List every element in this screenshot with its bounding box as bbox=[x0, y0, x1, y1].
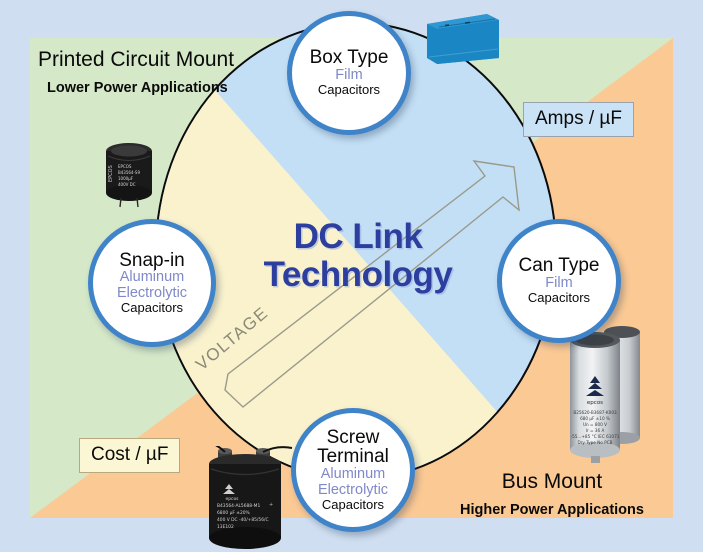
printed-circuit-mount-title: Printed Circuit Mount bbox=[38, 48, 234, 72]
bubble-screw-terminal[interactable]: Screw Terminal Aluminum Electrolytic Cap… bbox=[291, 408, 415, 532]
bubble-can-type-caption: Capacitors bbox=[528, 291, 590, 305]
bubble-can-type-title: Can Type bbox=[519, 256, 600, 276]
bubble-screw-terminal-subtitle-2: Electrolytic bbox=[318, 483, 388, 498]
bubble-snap-in[interactable]: Snap-in Aluminum Electrolytic Capacitors bbox=[88, 219, 216, 347]
bubble-screw-terminal-title-1: Screw bbox=[327, 428, 380, 448]
svg-text:B25620-B3687-K003: B25620-B3687-K003 bbox=[573, 410, 617, 415]
svg-text:EPCOS: EPCOS bbox=[108, 165, 114, 182]
svg-text:B43564-S9: B43564-S9 bbox=[118, 170, 140, 175]
bubble-snap-in-title: Snap-in bbox=[119, 251, 185, 271]
svg-text:680 µF ±10 %: 680 µF ±10 % bbox=[580, 416, 610, 421]
amps-per-microfarad-label: Amps / µF bbox=[523, 102, 634, 137]
box-film-capacitor-photo bbox=[425, 12, 501, 65]
bubble-screw-terminal-caption: Capacitors bbox=[322, 498, 384, 512]
snap-in-capacitor-photo: EPCOS B43564-S9 1000µF 400V DC EPCOS bbox=[96, 138, 162, 208]
svg-text:400V DC: 400V DC bbox=[118, 182, 136, 187]
svg-text:6800 µF ±20%: 6800 µF ±20% bbox=[217, 510, 250, 516]
bubble-box-type-subtitle: Film bbox=[335, 68, 362, 83]
svg-text:Ir = 36 A: Ir = 36 A bbox=[586, 428, 605, 433]
bus-mount-subtitle: Higher Power Applications bbox=[460, 502, 644, 518]
bubble-snap-in-subtitle-2: Electrolytic bbox=[117, 286, 187, 301]
bubble-box-type-caption: Capacitors bbox=[318, 83, 380, 97]
bubble-box-type[interactable]: Box Type Film Capacitors bbox=[287, 11, 411, 135]
svg-text:EPCOS: EPCOS bbox=[118, 164, 132, 169]
bubble-box-type-title: Box Type bbox=[310, 48, 389, 68]
screw-terminal-capacitor-photo: epcos B43564-AL5688-M1 6800 µF ±20% 400 … bbox=[199, 446, 293, 552]
bus-mount-title: Bus Mount bbox=[460, 470, 644, 494]
svg-text:13E102: 13E102 bbox=[217, 524, 234, 530]
bubble-snap-in-subtitle-1: Aluminum bbox=[120, 270, 184, 285]
svg-text:400 V DC -40/+85/56/C: 400 V DC -40/+85/56/C bbox=[217, 517, 269, 523]
svg-text:B43564-AL5688-M1: B43564-AL5688-M1 bbox=[217, 503, 260, 509]
svg-text:+: + bbox=[269, 502, 273, 508]
page-title: DC Link Technology bbox=[243, 218, 473, 294]
svg-text:Un = 800 V: Un = 800 V bbox=[583, 422, 607, 427]
svg-text:Dry Type No PCB: Dry Type No PCB bbox=[577, 440, 612, 445]
title-line-2: Technology bbox=[243, 256, 473, 294]
printed-circuit-mount-subtitle: Lower Power Applications bbox=[47, 80, 234, 96]
diagram-canvas: VOLTAGE DC Link Technology EPCOS B43564-… bbox=[0, 0, 703, 552]
svg-text:epcos: epcos bbox=[226, 497, 240, 502]
svg-text:-55...+85 °C IEC 61071: -55...+85 °C IEC 61071 bbox=[571, 434, 620, 439]
bus-mount-heading: Bus Mount Higher Power Applications bbox=[460, 470, 644, 518]
printed-circuit-mount-heading: Printed Circuit Mount Lower Power Applic… bbox=[38, 48, 234, 96]
svg-text:1000µF: 1000µF bbox=[118, 176, 134, 181]
bubble-can-type[interactable]: Can Type Film Capacitors bbox=[497, 219, 621, 343]
svg-text:epcos: epcos bbox=[587, 400, 603, 406]
title-line-1: DC Link bbox=[243, 218, 473, 256]
cost-per-microfarad-label: Cost / µF bbox=[79, 438, 180, 473]
bubble-can-type-subtitle: Film bbox=[545, 276, 572, 291]
bubble-snap-in-caption: Capacitors bbox=[121, 301, 183, 315]
bubble-screw-terminal-title-2: Terminal bbox=[317, 447, 389, 467]
bubble-screw-terminal-subtitle-1: Aluminum bbox=[321, 467, 385, 482]
